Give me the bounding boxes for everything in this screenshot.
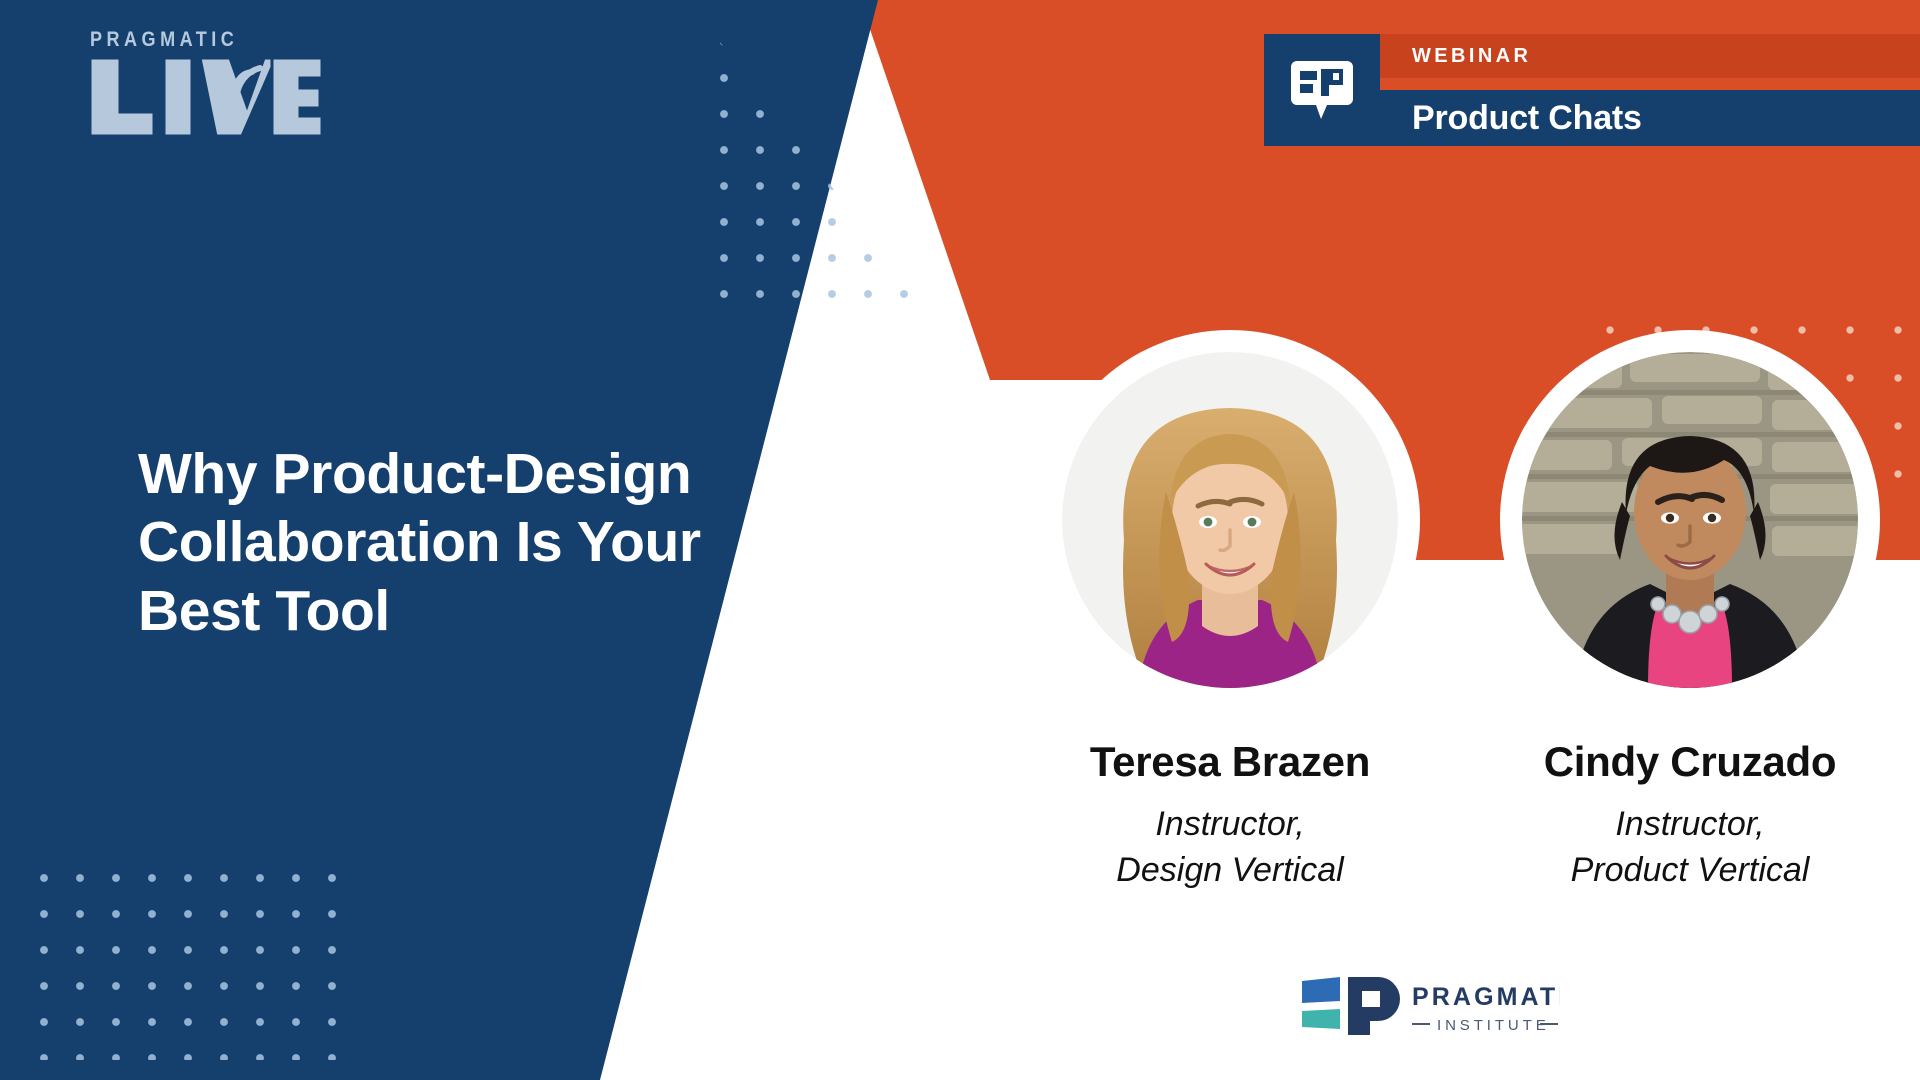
speaker-name: Teresa Brazen [1090, 738, 1370, 786]
speaker-card: Cindy Cruzado Instructor, Product Vertic… [1460, 352, 1920, 893]
headshot-teresa-brazen-image [1062, 352, 1398, 688]
series-name-label: Product Chats [1380, 90, 1920, 146]
headline-title: Why Product-Design Collaboration Is Your… [138, 440, 838, 645]
headshot-cindy-cruzado-image [1522, 352, 1858, 688]
speaker-role: Instructor, Design Vertical [1116, 802, 1343, 893]
speaker-role-line1: Instructor, [1116, 802, 1343, 848]
speaker-name: Cindy Cruzado [1544, 738, 1836, 786]
speaker-list: Teresa Brazen Instructor, Design Vertica… [1000, 352, 1920, 893]
speaker-role-line2: Product Vertical [1571, 848, 1810, 894]
navy-dot-pattern-bottom [26, 860, 356, 1060]
speaker-role: Instructor, Product Vertical [1571, 802, 1810, 893]
product-chats-icon-tile [1264, 34, 1380, 146]
svg-text:PRAGMATIC: PRAGMATIC [1412, 983, 1560, 1011]
speaker-role-line1: Instructor, [1571, 802, 1810, 848]
chat-bubble-p-icon [1289, 59, 1355, 121]
avatar [1522, 352, 1858, 688]
speaker-role-line2: Design Vertical [1116, 848, 1343, 894]
webinar-badge-texts: WEBINAR Product Chats [1380, 34, 1920, 146]
pragmatic-live-logo: PRAGMATIC [86, 28, 326, 154]
badge-divider [1380, 78, 1920, 90]
webinar-promo-slide: PRAGMATIC [0, 0, 1920, 1080]
pragmatic-live-logo-live-mark [86, 54, 326, 140]
webinar-kicker-label: WEBINAR [1380, 34, 1920, 78]
speaker-card: Teresa Brazen Instructor, Design Vertica… [1000, 352, 1460, 893]
pragmatic-institute-logo: PRAGMATIC INSTITUTE [1300, 975, 1560, 1047]
webinar-series-badge: WEBINAR Product Chats [1264, 34, 1920, 146]
svg-text:INSTITUTE: INSTITUTE [1437, 1017, 1550, 1034]
pragmatic-live-logo-wordmark: PRAGMATIC [90, 28, 293, 52]
avatar [1062, 352, 1398, 688]
